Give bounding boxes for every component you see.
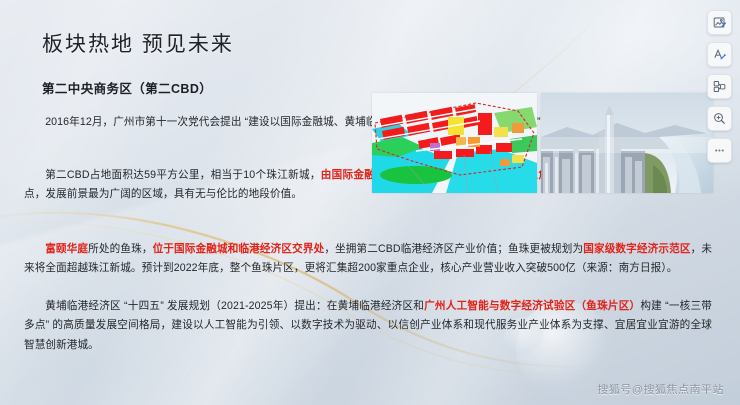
text-edit-icon[interactable] — [707, 42, 732, 67]
cbd-skyline-rendering — [541, 93, 713, 193]
image-edit-icon[interactable] — [707, 10, 732, 35]
p3-text-2: ，坐拥第二CBD临港经济区产业价值；鱼珠更被规划为 — [324, 243, 583, 255]
split-image-icon[interactable] — [707, 74, 732, 99]
section-heading: 第二中央商务区（第二CBD） — [42, 78, 212, 97]
cbd-skyline-art — [541, 93, 713, 193]
p2-text-1: 第二CBD占地面积达59平方公里，相当于10个珠江新城， — [45, 169, 321, 181]
page-title: 板块热地 预见未来 — [42, 28, 234, 58]
screenshot-root: 板块热地 预见未来 第二中央商务区（第二CBD） 2016年12月，广州市第十一… — [0, 0, 740, 405]
p3-highlight-1: 富颐华庭 — [45, 243, 88, 255]
slide-content: 板块热地 预见未来 第二中央商务区（第二CBD） 2016年12月，广州市第十一… — [0, 0, 740, 405]
more-options-icon[interactable] — [707, 138, 732, 163]
paragraph-3: 富颐华庭所处的鱼珠，位于国际金融城和临港经济区交界处，坐拥第二CBD临港经济区产… — [24, 240, 712, 279]
floating-toolbar — [706, 10, 732, 163]
zoom-in-icon[interactable] — [707, 106, 732, 131]
p3-text-1: 所处的鱼珠， — [88, 243, 152, 255]
zoning-plan-map-art — [372, 93, 537, 193]
p4-text-1: 黄埔临港经济区 “十四五” 发展规划（2021-2025年）提出：在黄埔临港经济… — [45, 300, 424, 312]
paragraph-4: 黄埔临港经济区 “十四五” 发展规划（2021-2025年）提出：在黄埔临港经济… — [24, 297, 712, 356]
p3-highlight-3: 国家级数字经济示范区 — [583, 243, 690, 255]
zoning-plan-map — [372, 93, 537, 193]
p4-highlight-1: 广州人工智能与数字经济试验区（鱼珠片区） — [424, 300, 640, 312]
p3-highlight-2: 位于国际金融城和临港经济区交界处 — [153, 243, 325, 255]
watermark-text: 搜狐号@搜狐焦点南平站 — [597, 381, 724, 397]
